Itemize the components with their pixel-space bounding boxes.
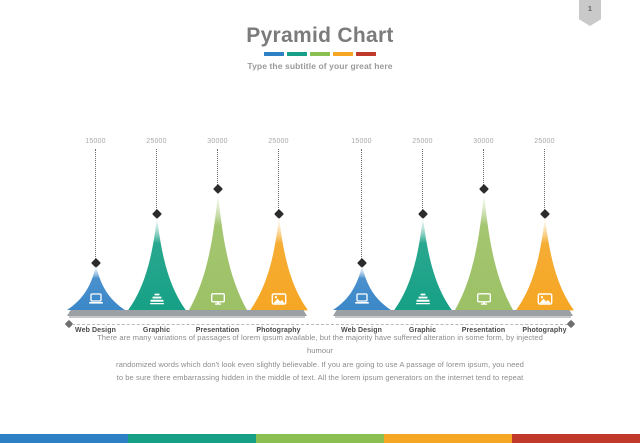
divider-diamond-right xyxy=(567,320,575,328)
leader-line xyxy=(278,149,280,214)
footer-segment-2 xyxy=(256,434,384,443)
pyramid-column[interactable]: 30000 xyxy=(453,138,514,320)
badge-flag-shape xyxy=(579,0,601,26)
divider-line xyxy=(72,324,568,325)
value-label-web-design: 15000 xyxy=(331,138,392,145)
title-accent-segment-3 xyxy=(333,52,353,56)
body-paragraph: There are many variations of passages of… xyxy=(86,331,554,384)
title-accent-segment-0 xyxy=(264,52,284,56)
value-label-presentation: 30000 xyxy=(453,138,514,145)
title-accent-segment-4 xyxy=(356,52,376,56)
footer-segment-3 xyxy=(384,434,512,443)
body-line: to be sure there embarrassing hidden in … xyxy=(86,371,554,384)
footer-color-bar xyxy=(0,434,640,443)
dotted-divider xyxy=(66,321,574,328)
leader-line xyxy=(156,149,158,214)
slide-number-label: 1 xyxy=(588,6,592,13)
photo-icon xyxy=(536,292,553,306)
leader-line xyxy=(361,149,363,263)
ground-shadow xyxy=(69,316,305,318)
leader-line xyxy=(422,149,424,214)
layers-icon xyxy=(414,292,431,306)
slide-number-badge: 1 xyxy=(579,0,601,26)
footer-segment-1 xyxy=(128,434,256,443)
group-left: 15000 25000 xyxy=(65,138,309,320)
layers-icon xyxy=(148,292,165,306)
body-line: There are many variations of passages of… xyxy=(86,331,554,358)
ground-bar xyxy=(67,310,307,316)
value-label-web-design: 15000 xyxy=(65,138,126,145)
page-subtitle: Type the subtitle of your great here xyxy=(0,61,640,71)
laptop-icon xyxy=(353,292,370,306)
pyramid-column[interactable]: 15000 xyxy=(65,138,126,320)
pyramid-column[interactable]: 25000 xyxy=(248,138,309,320)
pyramid-column[interactable]: 25000 xyxy=(392,138,453,320)
pyramid-column[interactable]: 30000 xyxy=(187,138,248,320)
pyramid-column[interactable]: 25000 xyxy=(126,138,187,320)
footer-segment-4 xyxy=(512,434,640,443)
value-label-presentation: 30000 xyxy=(187,138,248,145)
monitor-icon xyxy=(475,292,492,306)
slide-canvas: 1 Pyramid Chart Type the subtitle of you… xyxy=(0,0,640,443)
body-line: randomized words which don't look even s… xyxy=(86,358,554,371)
pyramid-column[interactable]: 15000 xyxy=(331,138,392,320)
leader-line xyxy=(95,149,97,263)
title-accent-rule xyxy=(264,52,376,56)
ground-shadow xyxy=(335,316,571,318)
photo-icon xyxy=(270,292,287,306)
page-title: Pyramid Chart xyxy=(0,24,640,47)
ground-bar xyxy=(333,310,573,316)
value-label-graphic: 25000 xyxy=(126,138,187,145)
value-label-photography: 25000 xyxy=(514,138,575,145)
group-right: 15000 25000 xyxy=(331,138,575,320)
laptop-icon xyxy=(87,292,104,306)
pyramid-column[interactable]: 25000 xyxy=(514,138,575,320)
value-label-photography: 25000 xyxy=(248,138,309,145)
title-block: Pyramid Chart Type the subtitle of your … xyxy=(0,24,640,71)
pyramid-groups: 15000 25000 xyxy=(0,138,640,320)
value-label-graphic: 25000 xyxy=(392,138,453,145)
monitor-icon xyxy=(209,292,226,306)
title-accent-segment-1 xyxy=(287,52,307,56)
footer-segment-0 xyxy=(0,434,128,443)
title-accent-segment-2 xyxy=(310,52,330,56)
leader-line xyxy=(544,149,546,214)
